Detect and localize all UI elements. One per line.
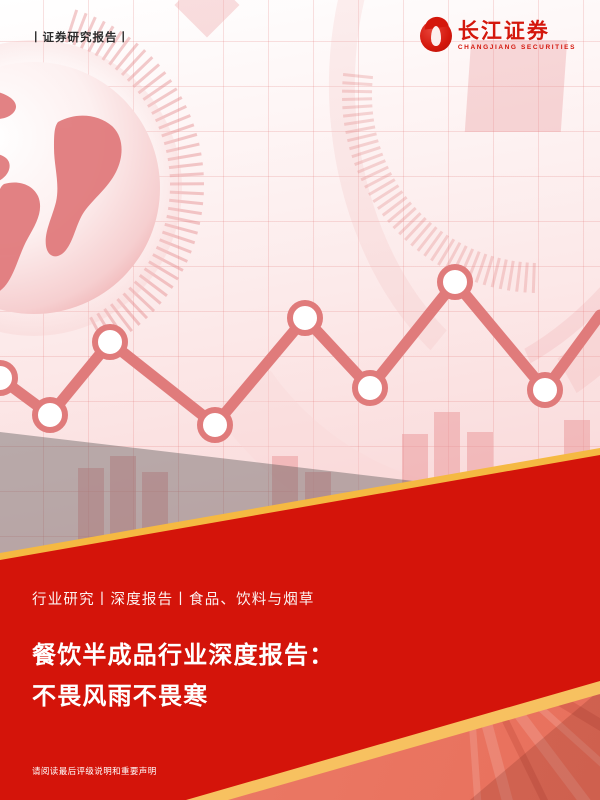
chart-marker [290,303,320,333]
report-cover: 丨证券研究报告丨 长江证券 CHANGJIANG SECURITIES 行业研究… [0,0,600,800]
breadcrumb: 行业研究丨深度报告丨食品、饮料与烟草 [32,588,562,609]
page-title: 餐饮半成品行业深度报告： [32,635,562,676]
publisher-logo-text: 长江证券 CHANGJIANG SECURITIES [458,21,576,52]
report-type-label: 丨证券研究报告丨 [30,29,130,45]
chart-marker [0,363,15,393]
publisher-name-en: CHANGJIANG SECURITIES [458,45,576,52]
chart-marker [440,267,470,297]
decorative-block-right [465,40,567,132]
chart-marker [530,375,560,405]
tick-mark [342,97,372,101]
chart-marker [95,327,125,357]
chart-marker [355,373,385,403]
radial-tick-fan-right [539,94,541,96]
dragon-circle-logo-icon [420,20,452,52]
page-subtitle: 不畏风雨不畏寒 [32,676,562,717]
publisher-logo: 长江证券 CHANGJIANG SECURITIES [420,20,576,52]
title-block: 行业研究丨深度报告丨食品、饮料与烟草 餐饮半成品行业深度报告： 不畏风雨不畏寒 [32,588,562,718]
chart-marker [200,410,230,440]
publisher-name-cn: 长江证券 [458,21,576,42]
disclaimer-footnote: 请阅读最后评级说明和重要声明 [32,765,157,777]
tick-mark [342,89,372,93]
chart-marker [35,400,65,430]
